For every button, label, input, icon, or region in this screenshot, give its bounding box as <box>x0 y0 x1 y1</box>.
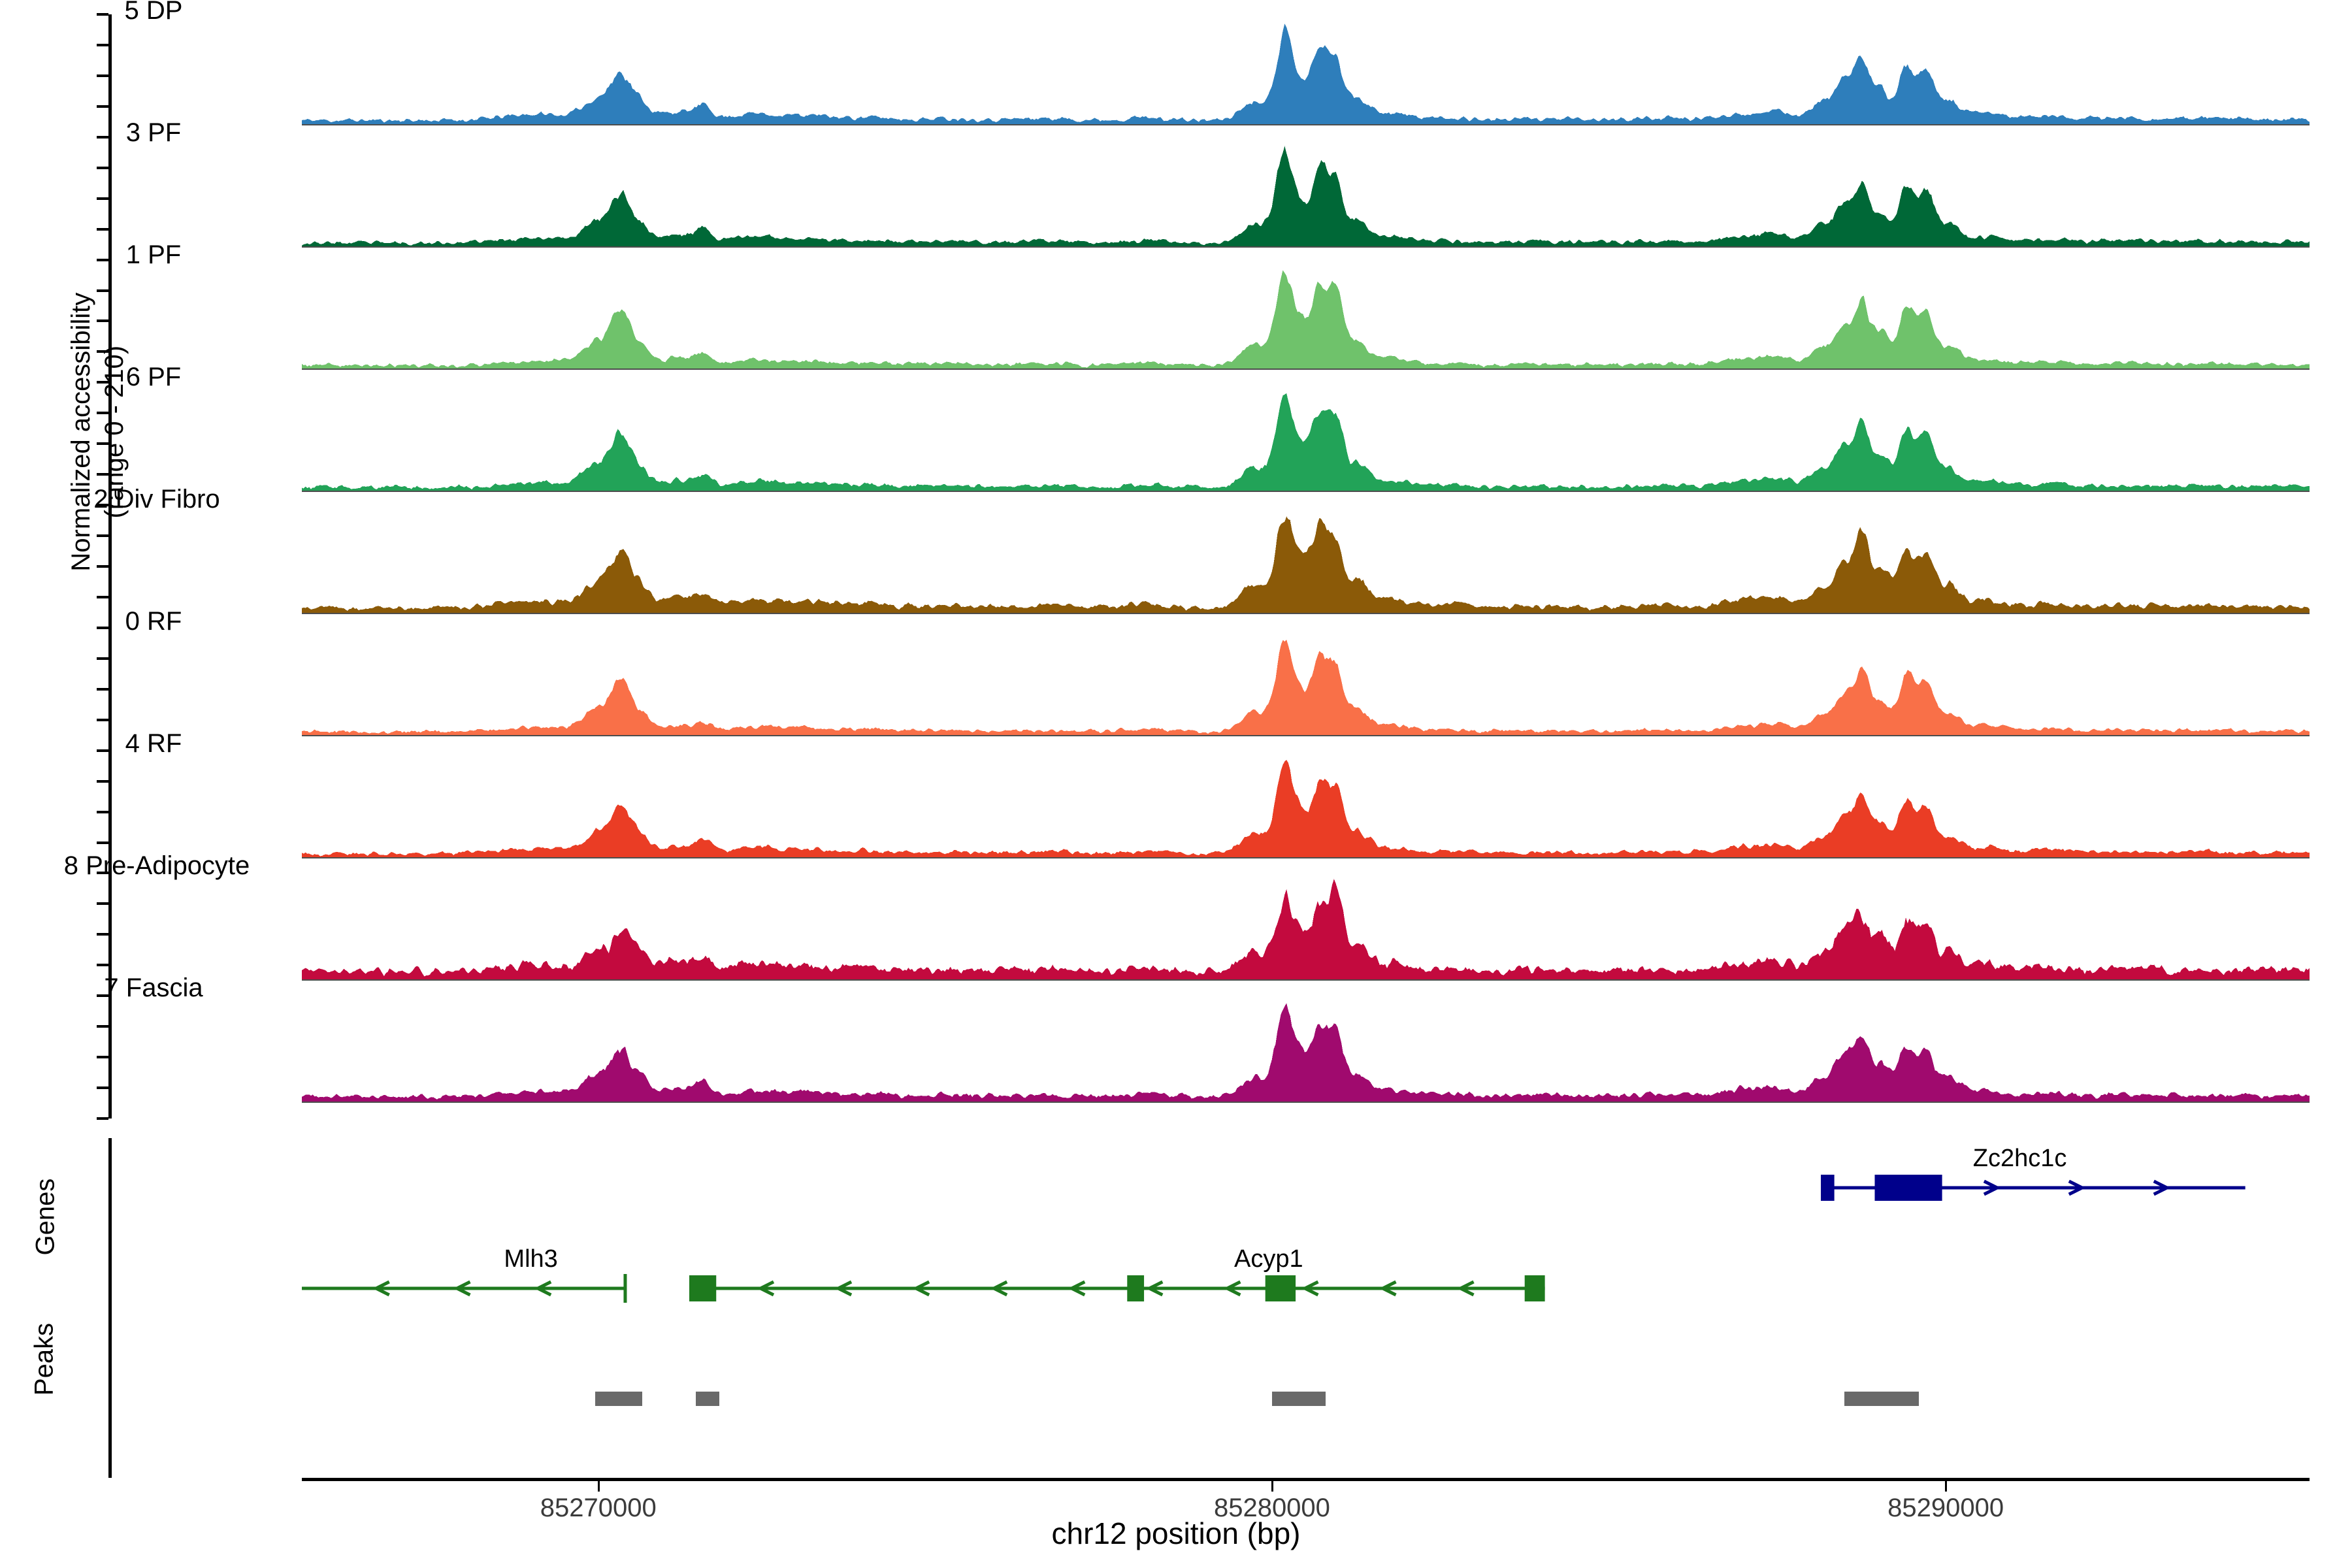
y-axis-tick <box>97 319 108 322</box>
y-axis-tick <box>97 105 108 108</box>
y-axis-tick <box>97 350 108 353</box>
y-axis-tick <box>97 1117 108 1120</box>
y-axis-tick <box>97 657 108 660</box>
track-baseline <box>302 857 2310 858</box>
genes-panel-label: Genes <box>31 1142 61 1292</box>
track-baseline <box>302 613 2310 614</box>
x-axis-tick-label: 85290000 <box>1815 1494 2076 1523</box>
y-axis-tick <box>97 442 108 445</box>
y-axis-tick <box>97 565 108 568</box>
y-axis-tick <box>97 473 108 476</box>
track-signal-1-pf <box>302 264 2310 368</box>
peak-region <box>696 1392 719 1406</box>
track-signal-2-div-fibro <box>302 508 2310 613</box>
track-signal-5-dp <box>302 20 2310 124</box>
track-label-0-rf: 0 RF <box>0 607 307 636</box>
track-label-3-pf: 3 PF <box>0 118 307 148</box>
gene-model-mlh3 <box>298 1269 629 1308</box>
track-baseline <box>302 368 2310 370</box>
x-axis-tick <box>598 1481 600 1492</box>
track-signal-3-pf <box>302 142 2310 246</box>
track-label-4-rf: 4 RF <box>0 729 307 759</box>
track-signal-6-pf <box>302 386 2310 491</box>
y-axis-tick <box>97 44 108 46</box>
y-axis-tick <box>97 197 108 200</box>
y-axis-tick <box>97 780 108 783</box>
gene-model-acyp1 <box>685 1269 1549 1308</box>
y-axis-tick <box>97 1025 108 1028</box>
y-axis-tick <box>97 74 108 77</box>
track-baseline <box>302 979 2310 981</box>
track-label-7-fascia: 7 Fascia <box>0 973 307 1003</box>
x-axis-tick <box>1945 1481 1947 1492</box>
y-axis-tick <box>97 933 108 936</box>
x-axis-tick-label: 85270000 <box>468 1494 729 1523</box>
track-signal-4-rf <box>302 753 2310 857</box>
y-axis-tick <box>97 719 108 721</box>
y-axis-tick <box>97 289 108 292</box>
y-axis-tick <box>97 902 108 905</box>
track-baseline <box>302 735 2310 736</box>
y-axis-tick <box>97 1056 108 1058</box>
track-baseline <box>302 1102 2310 1103</box>
track-label-6-pf: 6 PF <box>0 363 307 392</box>
gene-model-zc2hc1c <box>1817 1168 2249 1207</box>
y-axis-tick <box>97 228 108 231</box>
track-label-5-dp: 5 DP <box>0 0 307 25</box>
track-signal-0-rf <box>302 630 2310 735</box>
y-axis-tick <box>97 841 108 844</box>
y-axis-tick <box>97 167 108 169</box>
y-axis-label: Normalized accessibility (range 0 - 210) <box>65 203 131 661</box>
peak-region <box>1272 1392 1326 1406</box>
peak-region <box>1844 1392 1918 1406</box>
y-axis-tick <box>97 534 108 537</box>
y-axis-tick <box>97 1086 108 1089</box>
track-label-8-pre-adipocyte: 8 Pre-Adipocyte <box>0 851 314 881</box>
y-axis-tick <box>97 811 108 813</box>
x-axis-tick <box>1271 1481 1273 1492</box>
x-axis-title: chr12 position (bp) <box>980 1516 1372 1551</box>
track-signal-7-fascia <box>302 997 2310 1102</box>
track-signal-8-pre-adipocyte <box>302 875 2310 979</box>
y-axis-tick <box>97 964 108 966</box>
signal-axis-spine <box>108 14 112 1119</box>
peak-region <box>595 1392 642 1406</box>
track-baseline <box>302 246 2310 248</box>
y-axis-tick <box>97 596 108 598</box>
peaks-axis-spine <box>108 1334 112 1478</box>
y-axis-tick <box>97 688 108 691</box>
x-axis-line <box>302 1478 2310 1481</box>
peaks-panel-label: Peaks <box>30 1284 59 1435</box>
y-axis-tick <box>97 412 108 414</box>
track-label-1-pf: 1 PF <box>0 240 307 270</box>
track-baseline <box>302 491 2310 492</box>
track-label-2-div-fibro: 2 Div Fibro <box>0 485 314 514</box>
track-baseline <box>302 124 2310 125</box>
